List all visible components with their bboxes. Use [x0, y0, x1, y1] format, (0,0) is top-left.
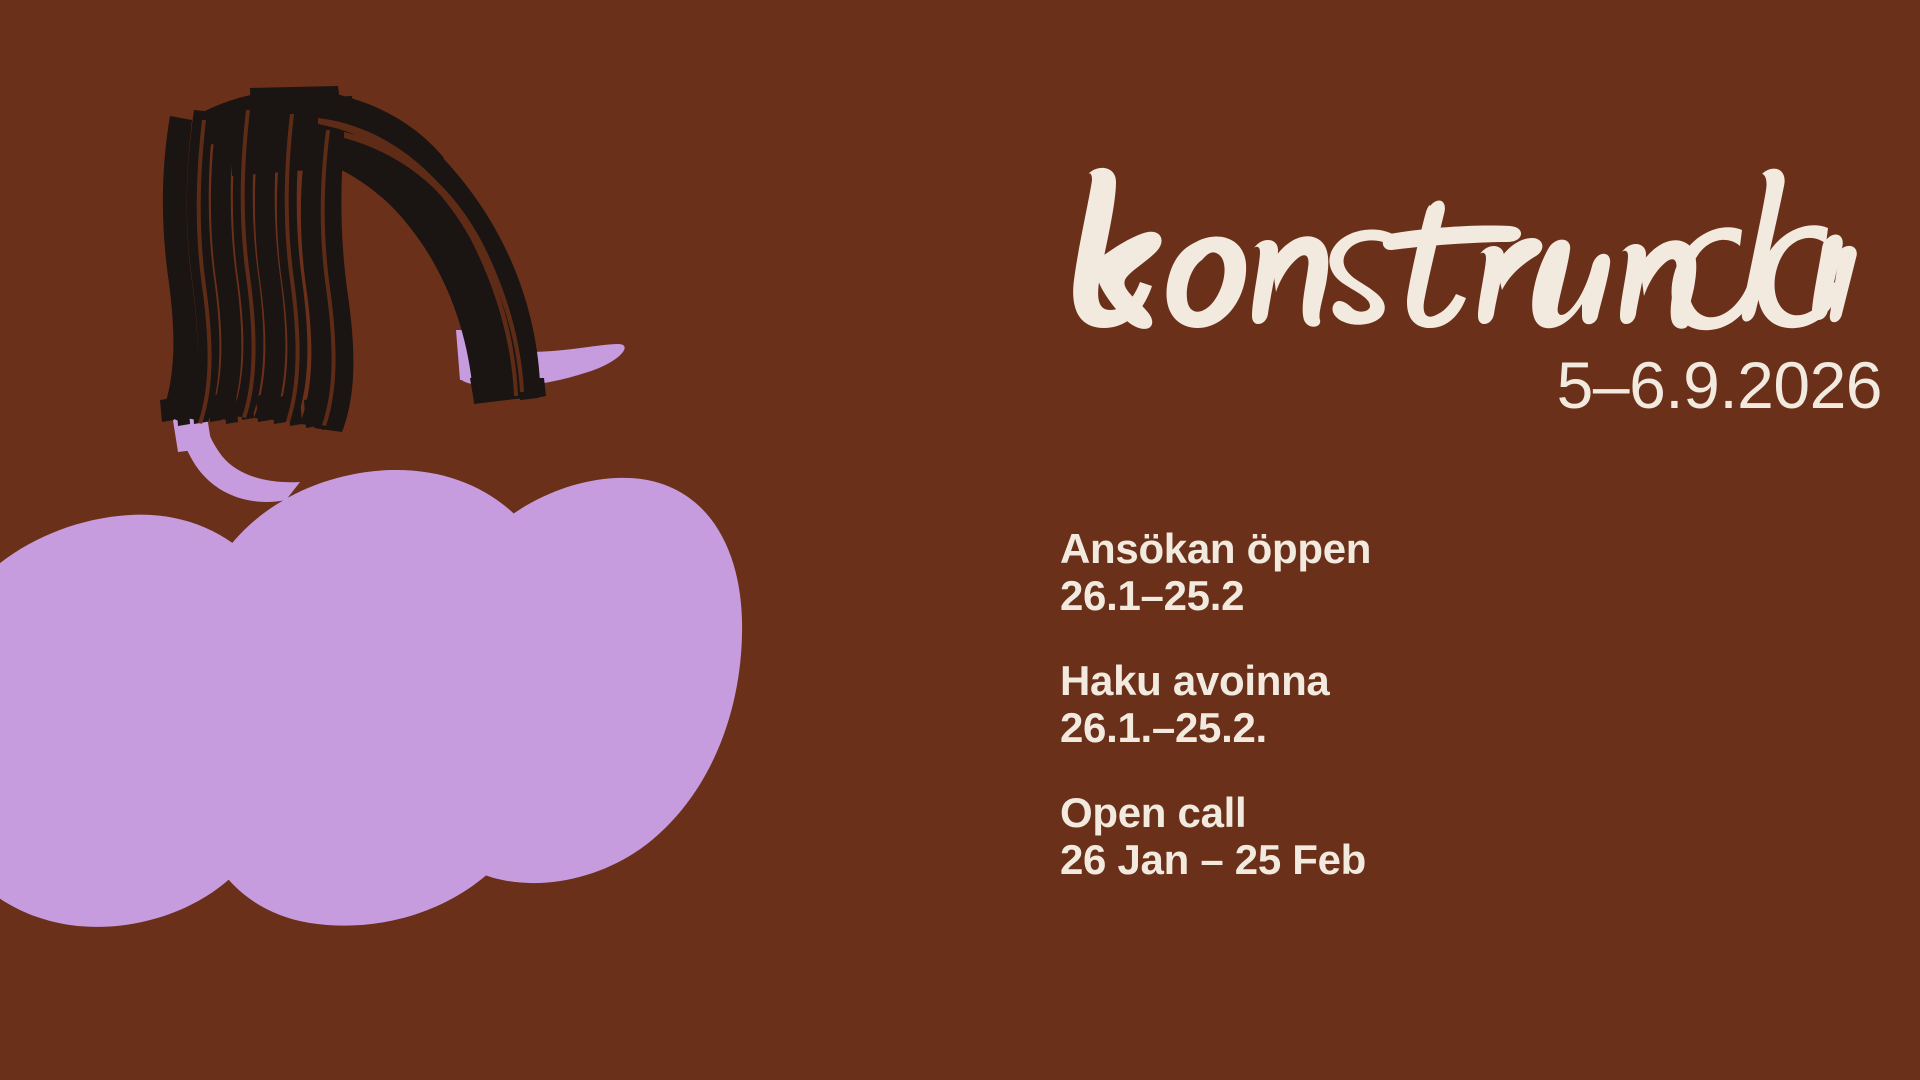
brand-wordmark-label: konstrundan [1040, 150, 1041, 151]
brand-wordmark: konstrundan [1040, 150, 1880, 340]
cherry-stems [160, 86, 546, 432]
info-dates-en: 26 Jan – 25 Feb [1060, 836, 1820, 883]
info-title-en: Open call [1060, 789, 1820, 836]
info-block-sv: Ansökan öppen 26.1–25.2 [1060, 525, 1820, 619]
info-blocks: Ansökan öppen 26.1–25.2 Haku avoinna 26.… [1060, 525, 1820, 883]
info-dates-fi: 26.1.–25.2. [1060, 704, 1820, 751]
poster-canvas: konstrundan [0, 0, 1920, 1080]
info-block-en: Open call 26 Jan – 25 Feb [1060, 789, 1820, 883]
cherries-brush-illustration [0, 0, 960, 1080]
info-title-fi: Haku avoinna [1060, 657, 1820, 704]
event-date: 5–6.9.2026 [1557, 352, 1882, 418]
poster-content: konstrundan [1040, 0, 1920, 1080]
cherry-blobs [0, 330, 742, 927]
info-title-sv: Ansökan öppen [1060, 525, 1820, 572]
info-block-fi: Haku avoinna 26.1.–25.2. [1060, 657, 1820, 751]
info-dates-sv: 26.1–25.2 [1060, 572, 1820, 619]
